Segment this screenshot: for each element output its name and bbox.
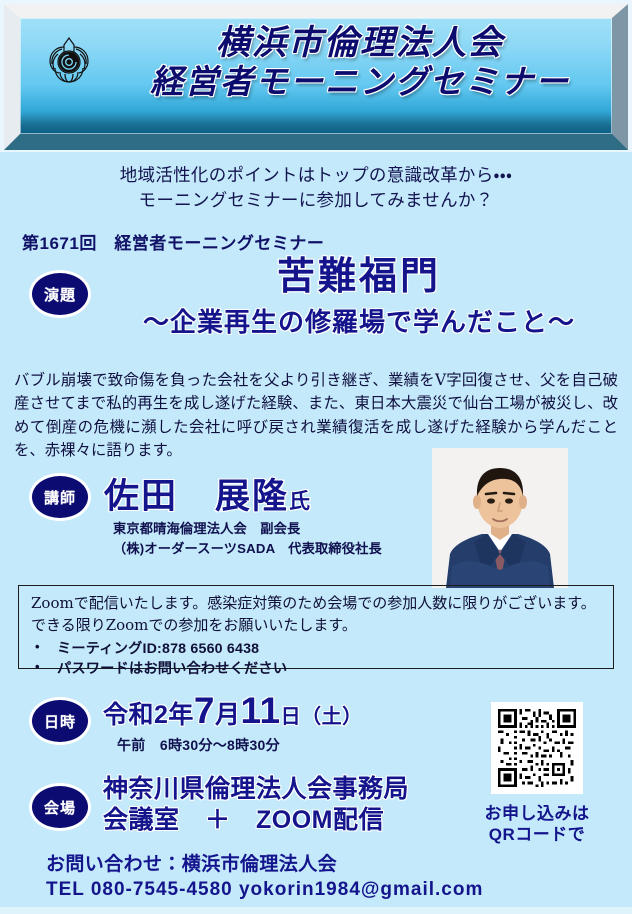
speaker-portrait [432,448,568,588]
lead-line-1: 地域活性化のポイントはトップの意識改革から・・・ [0,163,632,188]
footer-strip [0,907,632,914]
datetime-block: 令和2年7月11日（土） 午前 6時30分〜8時30分 [103,692,363,755]
lead-line-2: モーニングセミナーに参加してみませんか？ [0,188,632,213]
qr-code-icon[interactable] [491,702,583,794]
venue-block: 神奈川県倫理法人会事務局 会議室 ＋ ZOOM配信 [103,774,409,836]
qr-caption-line2: QRコードで [462,824,612,845]
speaker-badge: 講師 [32,476,88,518]
speaker-name: 佐田 展隆 [104,477,289,516]
contact-tel-email: TEL 080-7545-4580 yokorin1984@gmail.com [46,877,483,902]
banner-title-line2: 経営者モーニングセミナー [116,64,604,101]
datetime-month: 7 [194,690,215,731]
zoom-info-paragraph: Zoomで配信いたします。感染症対策のため会場での参加人数に限りがございます。で… [31,593,601,637]
qr-caption: お申し込みは QRコードで [462,803,612,846]
datetime-day: 11 [241,690,281,731]
speaker-affiliation: 東京都晴海倫理法人会 副会長 （株)オーダースーツSADA 代表取締役社長 [113,519,382,558]
venue-line-1: 神奈川県倫理法人会事務局 [103,774,409,805]
rinri-chrysanthemum-emblem-icon [38,32,100,94]
zoom-password-note: パスワードはお問い合わせください [31,659,601,680]
speaker-affiliation-line1: 東京都晴海倫理法人会 副会長 [113,519,382,539]
banner-title-line1: 横浜市倫理法人会 [116,24,604,62]
qr-area: お申し込みは QRコードで [462,702,612,846]
speaker-affiliation-line2: （株)オーダースーツSADA 代表取締役社長 [113,539,382,559]
theme-title-group: 苦難福門 〜企業再生の修羅場で学んだこと〜 [100,258,618,339]
datetime-day-unit: 日 [281,706,302,728]
datetime-month-unit: 月 [215,701,241,729]
theme-badge: 演題 [32,273,88,315]
session-number: 第1671回 経営者モーニングセミナー [22,229,324,254]
contact-footer: お問い合わせ：横浜市倫理法人会 TEL 080-7545-4580 yokori… [46,852,483,903]
zoom-meeting-id: ミーティングID:878 6560 6438 [31,639,601,660]
lead-copy: 地域活性化のポイントはトップの意識改革から・・・ モーニングセミナーに参加してみ… [0,163,632,213]
zoom-info-box: Zoomで配信いたします。感染症対策のため会場での参加人数に限りがございます。で… [18,585,614,669]
speaker-name-group: 佐田 展隆氏 [104,468,310,519]
datetime-era: 令和2年 [103,701,194,729]
datetime-time: 午前 6時30分〜8時30分 [117,735,363,755]
datetime-weekday: （土） [301,706,363,728]
datetime-badge: 日時 [32,700,88,742]
theme-subtitle: 〜企業再生の修羅場で学んだこと〜 [100,302,618,339]
theme-title: 苦難福門 [100,258,618,298]
datetime-date-line: 令和2年7月11日（土） [103,692,363,731]
venue-badge: 会場 [32,786,88,828]
header-bevel-frame: 横浜市倫理法人会 経営者モーニングセミナー [4,4,628,150]
zoom-info-list: ミーティングID:878 6560 6438 パスワードはお問い合わせください [31,639,601,680]
qr-caption-line1: お申し込みは [462,803,612,824]
speaker-name-suffix: 氏 [289,490,310,513]
header-banner: 横浜市倫理法人会 経営者モーニングセミナー [0,0,632,152]
banner-title-group: 横浜市倫理法人会 経営者モーニングセミナー [116,24,604,101]
venue-line-2: 会議室 ＋ ZOOM配信 [103,805,409,836]
contact-organization: お問い合わせ：横浜市倫理法人会 [46,852,483,877]
seminar-flyer: 横浜市倫理法人会 経営者モーニングセミナー 地域活性化のポイントはトップの意識改… [0,0,632,914]
